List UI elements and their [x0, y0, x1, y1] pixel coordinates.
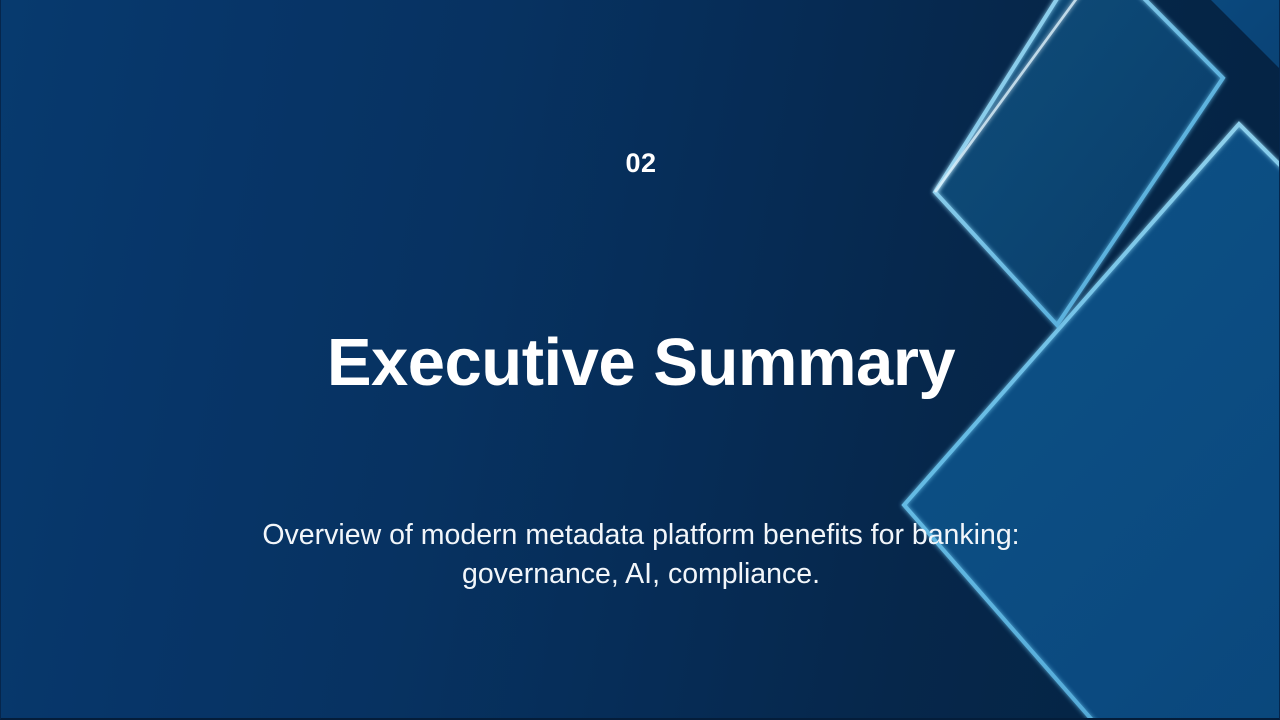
slide-subtitle: Overview of modern metadata platform ben… [191, 516, 1091, 595]
slide-number: 02 [1, 150, 1280, 177]
page-title: Executive Summary [1, 325, 1280, 400]
slide-content: 02 Executive Summary Overview of modern … [1, 0, 1279, 718]
presentation-slide: 02 Executive Summary Overview of modern … [0, 0, 1280, 720]
